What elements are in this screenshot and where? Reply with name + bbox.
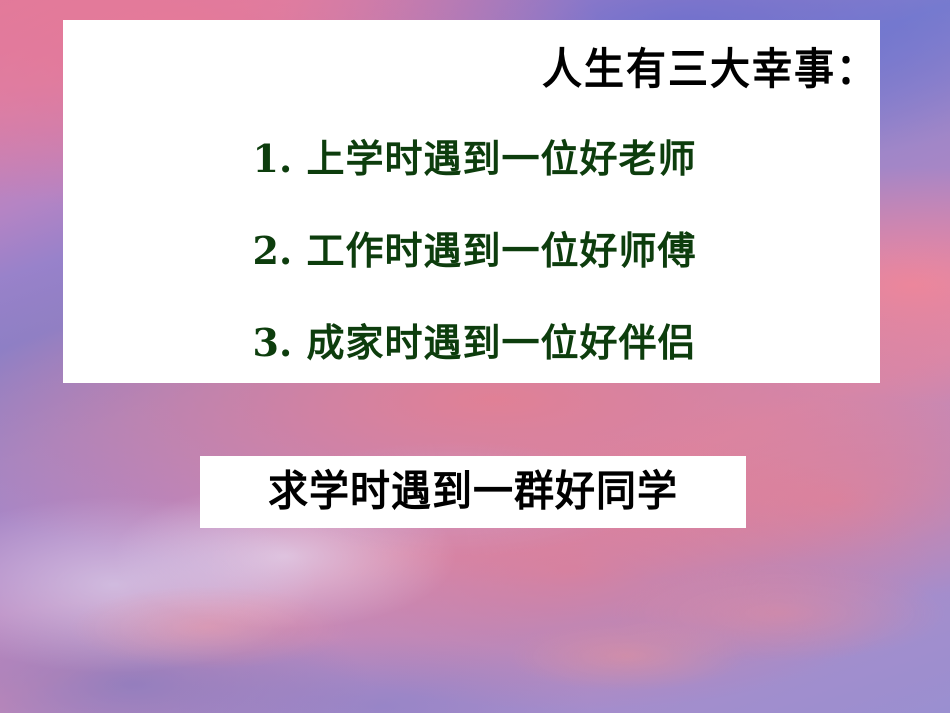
list-item-number: 3. <box>253 320 293 365</box>
list-item-label: 上学时遇到一位好老师 <box>306 137 696 181</box>
list-item: 1. 上学时遇到一位好老师 <box>63 140 880 178</box>
list-item: 3. 成家时遇到一位好伴侣 <box>63 324 880 362</box>
callout-white-box: 求学时遇到一群好同学 <box>200 456 746 528</box>
main-white-panel: 人生有三大幸事： 1. 上学时遇到一位好老师 2. 工作时遇到一位好师傅 3. … <box>63 20 880 383</box>
callout-text: 求学时遇到一群好同学 <box>268 471 678 513</box>
list-item-label: 工作时遇到一位好师傅 <box>306 229 696 273</box>
list-item-number: 1. <box>253 136 293 181</box>
happiness-item-list: 1. 上学时遇到一位好老师 2. 工作时遇到一位好师傅 3. 成家时遇到一位好伴… <box>63 140 880 362</box>
slide-canvas: 人生有三大幸事： 1. 上学时遇到一位好老师 2. 工作时遇到一位好师傅 3. … <box>0 0 950 713</box>
page-title: 人生有三大幸事： <box>542 48 878 91</box>
list-item-label: 成家时遇到一位好伴侣 <box>306 321 696 365</box>
list-item: 2. 工作时遇到一位好师傅 <box>63 232 880 270</box>
list-item-number: 2. <box>253 228 293 273</box>
